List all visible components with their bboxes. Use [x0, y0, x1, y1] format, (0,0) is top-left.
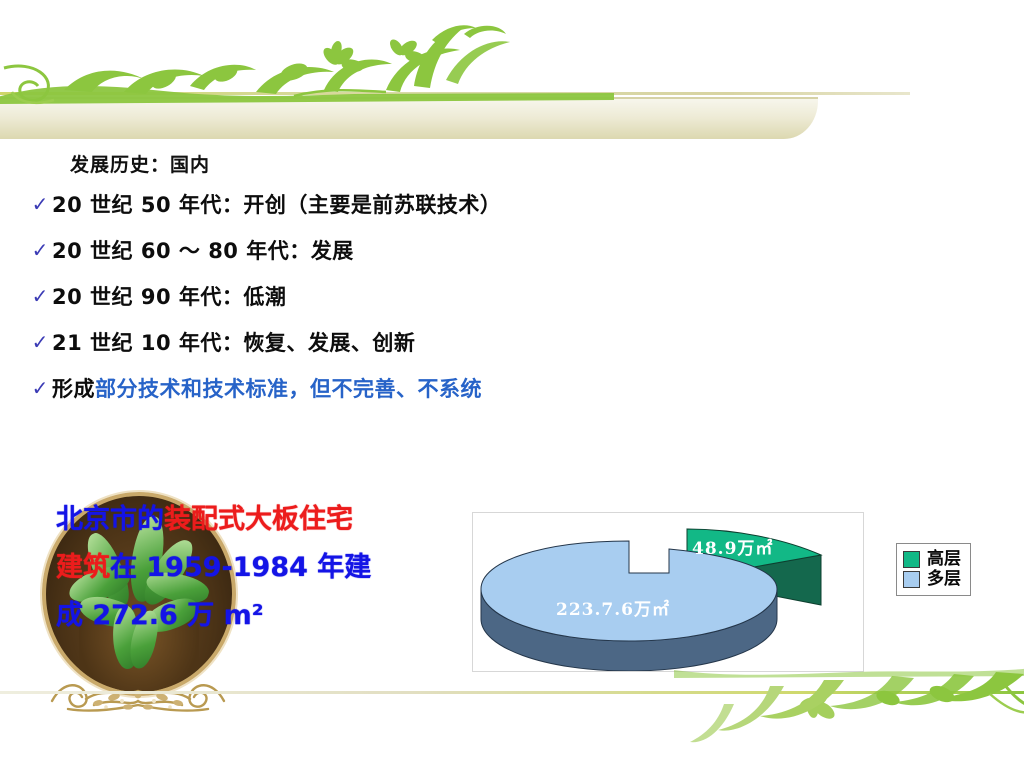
- list-item: ✓ 20 世纪 60 ～ 80 年代：发展: [0, 234, 1024, 268]
- pie-slice-label-gaoceng: 48.9万㎡: [692, 534, 773, 559]
- list-item: ✓ 20 世纪 50 年代：开创（主要是前苏联技术）: [0, 188, 1024, 222]
- vine-decoration-bottom-icon: [674, 664, 1024, 754]
- bullet-text: 20 世纪 50 年代：开创（主要是前苏联技术）: [52, 188, 501, 222]
- check-icon: ✓: [0, 234, 52, 268]
- caption-line-2: 建筑在 1959-1984 年建: [56, 544, 486, 592]
- slide-body: 发展历史：国内 ✓ 20 世纪 50 年代：开创（主要是前苏联技术） ✓ 20 …: [0, 150, 1024, 418]
- legend-swatch-green: [903, 551, 920, 568]
- list-item: ✓ 20 世纪 90 年代：低潮: [0, 280, 1024, 314]
- list-item: ✓ 21 世纪 10 年代：恢复、发展、创新: [0, 326, 1024, 360]
- check-icon: ✓: [0, 326, 52, 360]
- gold-flourish-icon: [38, 661, 238, 717]
- bullet-text: 20 世纪 90 年代：低潮: [52, 280, 286, 314]
- check-icon: ✓: [0, 372, 52, 406]
- check-icon: ✓: [0, 280, 52, 314]
- bullet-text: 20 世纪 60 ～ 80 年代：发展: [52, 234, 354, 268]
- caption-line-1: 北京市的装配式大板住宅: [56, 496, 486, 544]
- list-item: ✓ 形成部分技术和技术标准，但不完善、不系统: [0, 372, 1024, 406]
- legend-item-duoceng: 多层: [903, 570, 961, 589]
- chart-legend: 高层 多层: [896, 543, 971, 596]
- bullet-text: 形成部分技术和技术标准，但不完善、不系统: [52, 372, 482, 406]
- slide-canvas: 发展历史：国内 ✓ 20 世纪 50 年代：开创（主要是前苏联技术） ✓ 20 …: [0, 0, 1024, 768]
- caption-overlay: 北京市的装配式大板住宅 建筑在 1959-1984 年建 成 272.6 万 m…: [56, 496, 486, 640]
- pie-chart-svg: [473, 513, 863, 671]
- pie-slice-label-duoceng: 223.7.6万㎡: [556, 595, 670, 620]
- page-title: 发展历史：国内: [70, 150, 1024, 180]
- bullet-list: ✓ 20 世纪 50 年代：开创（主要是前苏联技术） ✓ 20 世纪 60 ～ …: [0, 188, 1024, 406]
- legend-swatch-blue: [903, 571, 920, 588]
- caption-line-3: 成 272.6 万 m²: [56, 592, 486, 640]
- bullet-text: 21 世纪 10 年代：恢复、发展、创新: [52, 326, 415, 360]
- legend-label: 高层: [927, 550, 961, 569]
- legend-item-gaoceng: 高层: [903, 550, 961, 569]
- check-icon: ✓: [0, 188, 52, 222]
- vine-decoration-icon: [0, 20, 614, 120]
- legend-label: 多层: [927, 570, 961, 589]
- pie-chart: [472, 512, 864, 672]
